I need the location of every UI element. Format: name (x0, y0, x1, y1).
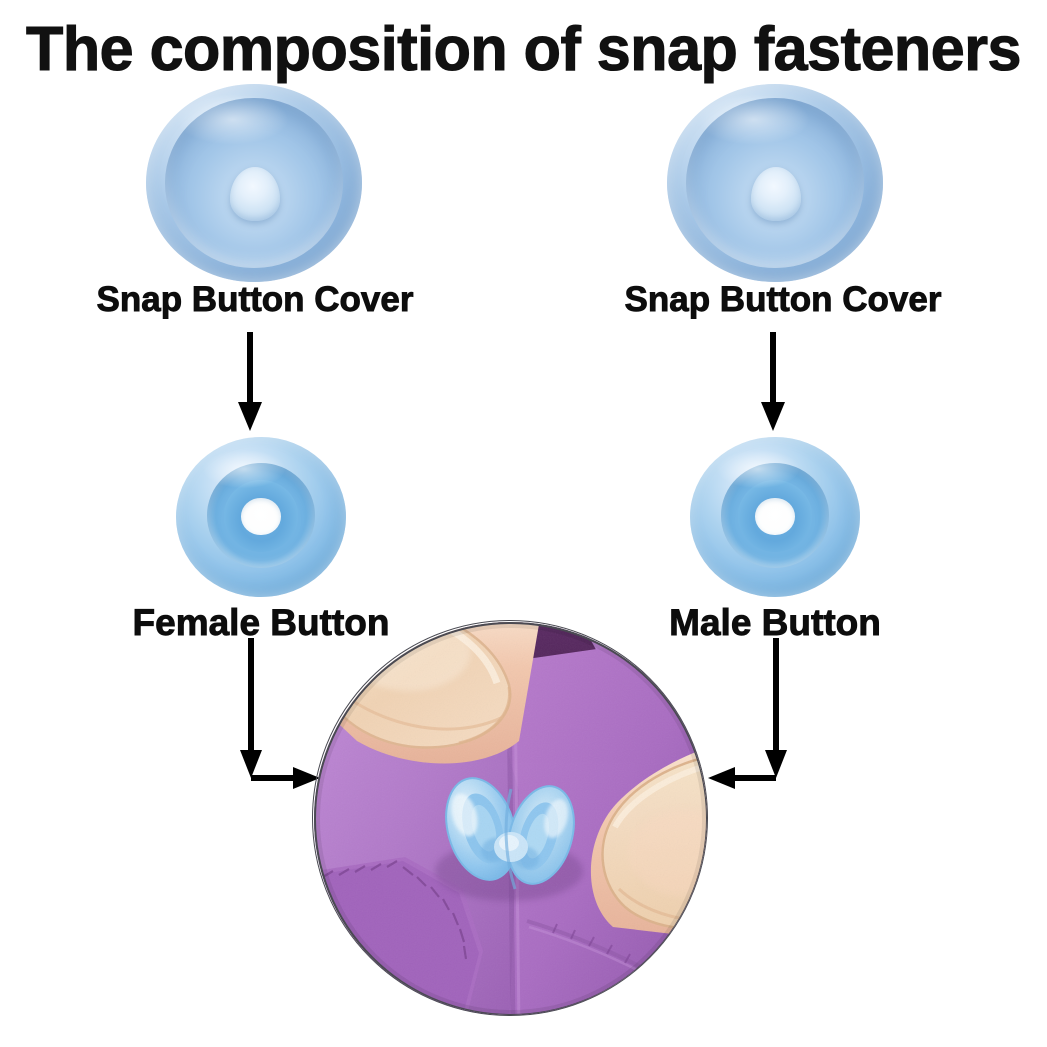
arrow-elbow-left-icon-male (700, 638, 810, 798)
cover-center-nub (751, 167, 801, 220)
female-button-hole (241, 498, 280, 535)
male-button-hole (755, 498, 794, 535)
cover-center-nub (230, 167, 280, 220)
page-title: The composition of snap fasteners (8, 16, 1039, 84)
label-snap-button-cover-right: Snap Button Cover (583, 280, 983, 320)
arrow-down-icon-left-cover (225, 332, 275, 432)
male-button-image (690, 437, 860, 597)
label-snap-button-cover-left: Snap Button Cover (55, 280, 455, 320)
label-female-button: Female Button (81, 602, 441, 644)
snap-button-cover-left-image (146, 84, 362, 282)
snap-in-use-illustration (313, 621, 708, 1016)
label-male-button: Male Button (605, 602, 945, 644)
snap-button-cover-right-image (667, 84, 883, 282)
snap-in-use-photo (312, 620, 708, 1016)
diagram-canvas: The composition of snap fasteners Snap B… (0, 0, 1047, 1047)
arrow-down-icon-right-cover (748, 332, 798, 432)
female-button-image (176, 437, 346, 597)
